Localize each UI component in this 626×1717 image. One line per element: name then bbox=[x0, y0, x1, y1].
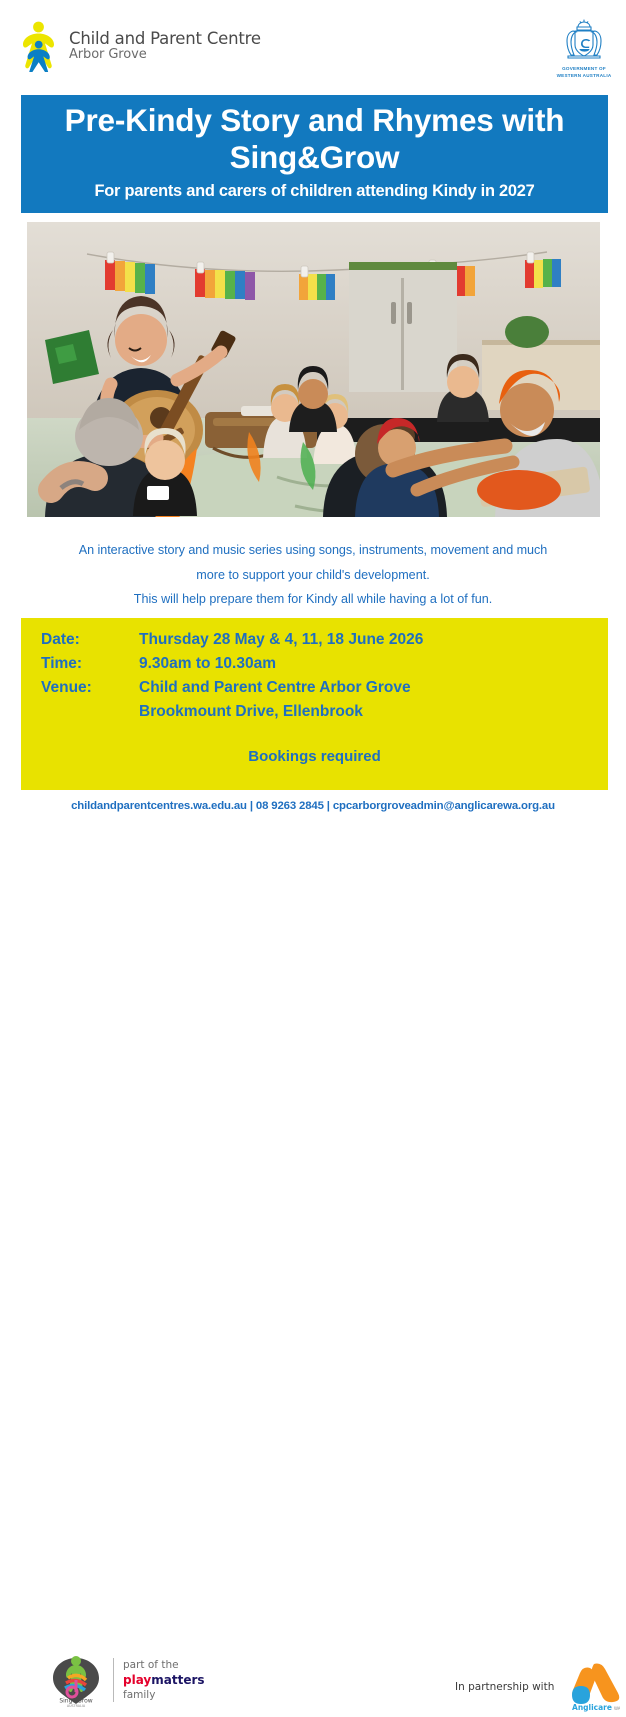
wa-caption-line1: GOVERNMENT OF bbox=[556, 66, 612, 73]
play-matters-brand-matters: matters bbox=[151, 1673, 204, 1687]
session-photograph bbox=[27, 222, 600, 517]
detail-value-venue: Child and Parent Centre Arbor Grove bbox=[139, 679, 411, 697]
sing-and-grow-mark-subcaption: AUSTRALIA bbox=[67, 1704, 86, 1708]
sing-and-grow-logo-icon: Sing&Grow AUSTRALIA bbox=[48, 1652, 104, 1708]
detail-label-time: Time: bbox=[41, 655, 139, 673]
cpc-logo-line2: Arbor Grove bbox=[69, 48, 261, 61]
title-banner: Pre-Kindy Story and Rhymes with Sing&Gro… bbox=[21, 95, 608, 213]
event-details-box: Date: Thursday 28 May & 4, 11, 18 June 2… bbox=[21, 618, 608, 790]
page-footer: Sing&Grow AUSTRALIA part of the playmatt… bbox=[0, 824, 626, 893]
detail-value-address: Brookmount Drive, Ellenbrook bbox=[139, 703, 363, 721]
bookings-required-text: Bookings required bbox=[21, 748, 608, 765]
detail-label-venue: Venue: bbox=[41, 679, 139, 697]
detail-row-time: Time: 9.30am to 10.30am bbox=[41, 655, 423, 679]
anglicare-wa-logo-icon: Anglicare WA bbox=[564, 1662, 620, 1712]
wa-state-crest-icon bbox=[556, 18, 612, 64]
detail-value-time: 9.30am to 10.30am bbox=[139, 655, 276, 673]
flyer-page: Child and Parent Centre Arbor Grove bbox=[0, 0, 626, 893]
detail-row-address: Brookmount Drive, Ellenbrook bbox=[41, 703, 423, 727]
contact-phone[interactable]: 08 9263 2845 bbox=[256, 800, 324, 812]
partnership-lockup: In partnership with Anglicare WA bbox=[455, 1662, 620, 1712]
child-and-parent-figure-icon bbox=[18, 20, 62, 72]
event-details-grid: Date: Thursday 28 May & 4, 11, 18 June 2… bbox=[41, 631, 423, 727]
play-matters-line3: family bbox=[123, 1688, 205, 1702]
play-matters-lockup: part of the playmatters family bbox=[123, 1658, 205, 1703]
description-line2: more to support your child's development… bbox=[35, 563, 591, 588]
contact-separator-2: | bbox=[324, 800, 333, 812]
description-text: An interactive story and music series us… bbox=[35, 538, 591, 612]
cpc-logo-line1: Child and Parent Centre bbox=[69, 31, 261, 48]
page-header: Child and Parent Centre Arbor Grove bbox=[0, 0, 626, 88]
play-matters-brand-play: play bbox=[123, 1673, 151, 1687]
wa-caption-line2: WESTERN AUSTRALIA bbox=[556, 73, 612, 80]
contact-email-link[interactable]: cpcarborgroveadmin@anglicarewa.org.au bbox=[333, 800, 555, 812]
detail-value-date: Thursday 28 May & 4, 11, 18 June 2026 bbox=[139, 631, 423, 649]
banner-title-line2: Sing&Grow bbox=[230, 139, 400, 175]
anglicare-brand-text: Anglicare bbox=[572, 1703, 612, 1712]
description-line3: This will help prepare them for Kindy al… bbox=[35, 587, 591, 612]
contact-line: childandparentcentres.wa.edu.au | 08 926… bbox=[0, 800, 626, 812]
detail-label-date: Date: bbox=[41, 631, 139, 649]
play-matters-line1: part of the bbox=[123, 1658, 205, 1672]
child-and-parent-centre-logo: Child and Parent Centre Arbor Grove bbox=[18, 20, 261, 72]
banner-subtitle: For parents and carers of children atten… bbox=[95, 182, 535, 201]
contact-website-link[interactable]: childandparentcentres.wa.edu.au bbox=[71, 800, 247, 812]
sing-and-grow-footer-logo: Sing&Grow AUSTRALIA part of the playmatt… bbox=[48, 1652, 205, 1708]
footer-divider bbox=[113, 1658, 114, 1702]
government-of-wa-logo: GOVERNMENT OF WESTERN AUSTRALIA bbox=[556, 18, 612, 79]
detail-row-venue: Venue: Child and Parent Centre Arbor Gro… bbox=[41, 679, 423, 703]
partnership-text: In partnership with bbox=[455, 1681, 554, 1693]
anglicare-brand-suffix: WA bbox=[614, 1706, 620, 1711]
banner-title-line1: Pre-Kindy Story and Rhymes with bbox=[65, 102, 565, 138]
contact-separator-1: | bbox=[247, 800, 256, 812]
detail-row-date: Date: Thursday 28 May & 4, 11, 18 June 2… bbox=[41, 631, 423, 655]
description-line1: An interactive story and music series us… bbox=[35, 538, 591, 563]
